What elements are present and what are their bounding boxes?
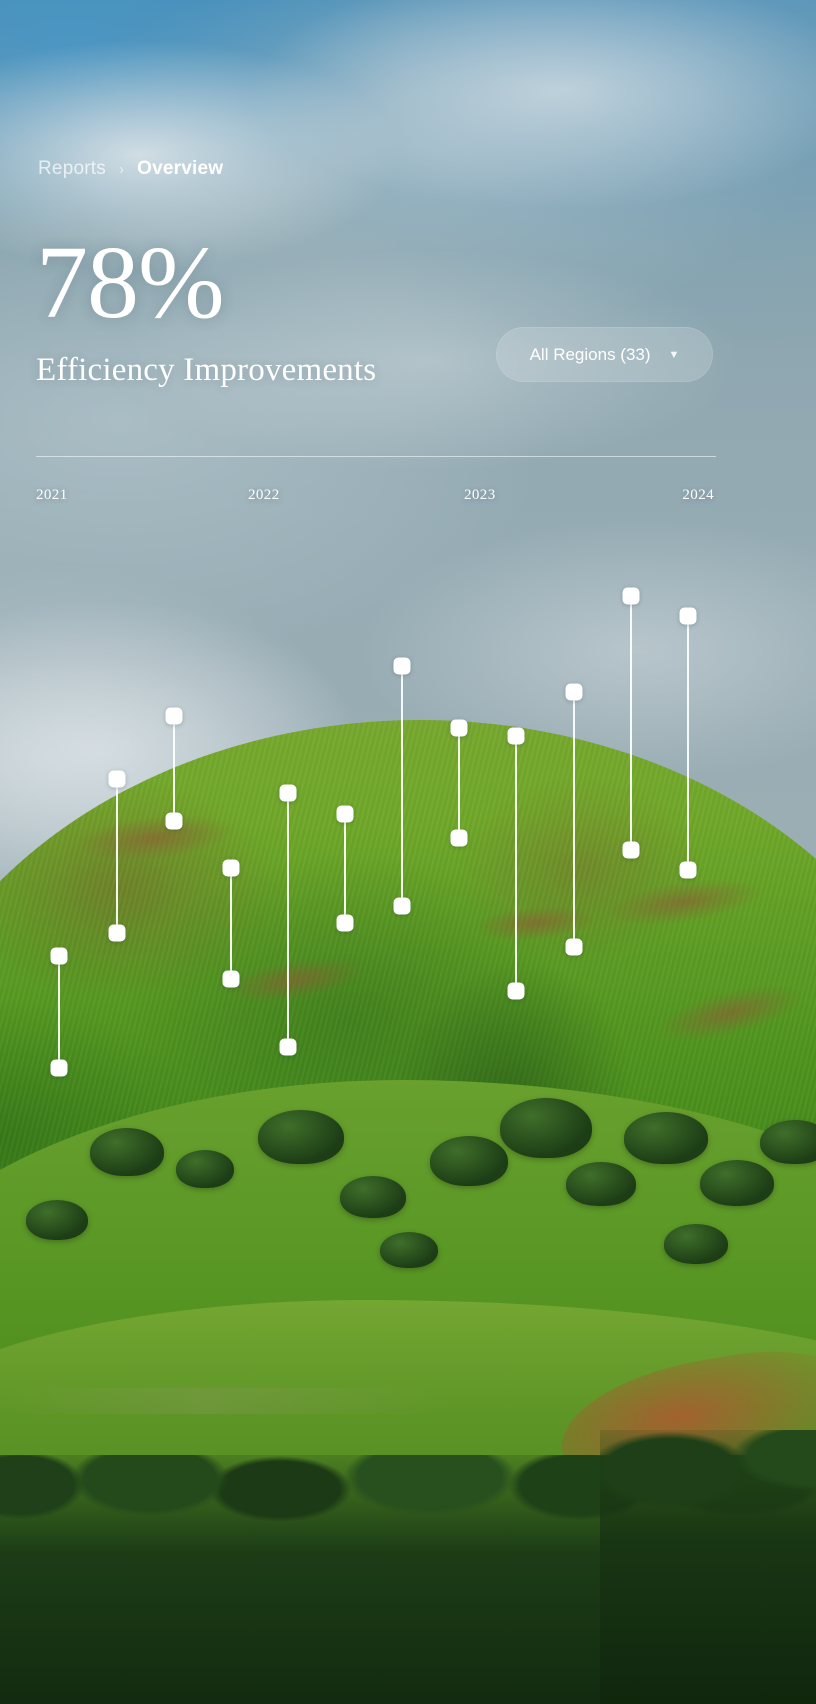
chart-stem bbox=[458, 728, 460, 838]
chart-stem bbox=[173, 716, 175, 821]
chart-stem bbox=[401, 666, 403, 906]
chart-marker-high[interactable] bbox=[166, 708, 183, 725]
chart-marker-high[interactable] bbox=[680, 608, 697, 625]
chart-marker-low[interactable] bbox=[337, 915, 354, 932]
chart-marker-low[interactable] bbox=[280, 1039, 297, 1056]
chart-stem bbox=[116, 779, 118, 933]
chart-stem bbox=[58, 956, 60, 1068]
chart-marker-high[interactable] bbox=[223, 860, 240, 877]
chart-marker-low[interactable] bbox=[680, 862, 697, 879]
chart-marker-low[interactable] bbox=[451, 830, 468, 847]
range-chart bbox=[0, 0, 816, 1704]
chart-marker-high[interactable] bbox=[566, 684, 583, 701]
chart-marker-low[interactable] bbox=[623, 842, 640, 859]
chart-marker-low[interactable] bbox=[394, 898, 411, 915]
chart-marker-high[interactable] bbox=[280, 785, 297, 802]
chart-stem bbox=[573, 692, 575, 947]
chart-marker-low[interactable] bbox=[109, 925, 126, 942]
chart-marker-low[interactable] bbox=[508, 983, 525, 1000]
chart-stem bbox=[515, 736, 517, 991]
chart-marker-low[interactable] bbox=[566, 939, 583, 956]
chart-marker-high[interactable] bbox=[451, 720, 468, 737]
chart-marker-low[interactable] bbox=[166, 813, 183, 830]
chart-marker-low[interactable] bbox=[223, 971, 240, 988]
chart-stem bbox=[687, 616, 689, 870]
chart-marker-high[interactable] bbox=[337, 806, 354, 823]
chart-marker-high[interactable] bbox=[51, 948, 68, 965]
chart-stem bbox=[230, 868, 232, 979]
chart-marker-high[interactable] bbox=[623, 588, 640, 605]
chart-marker-high[interactable] bbox=[508, 728, 525, 745]
chart-marker-high[interactable] bbox=[394, 658, 411, 675]
chart-stem bbox=[630, 596, 632, 850]
chart-marker-low[interactable] bbox=[51, 1060, 68, 1077]
chart-stem bbox=[344, 814, 346, 923]
chart-marker-high[interactable] bbox=[109, 771, 126, 788]
chart-stem bbox=[287, 793, 289, 1047]
